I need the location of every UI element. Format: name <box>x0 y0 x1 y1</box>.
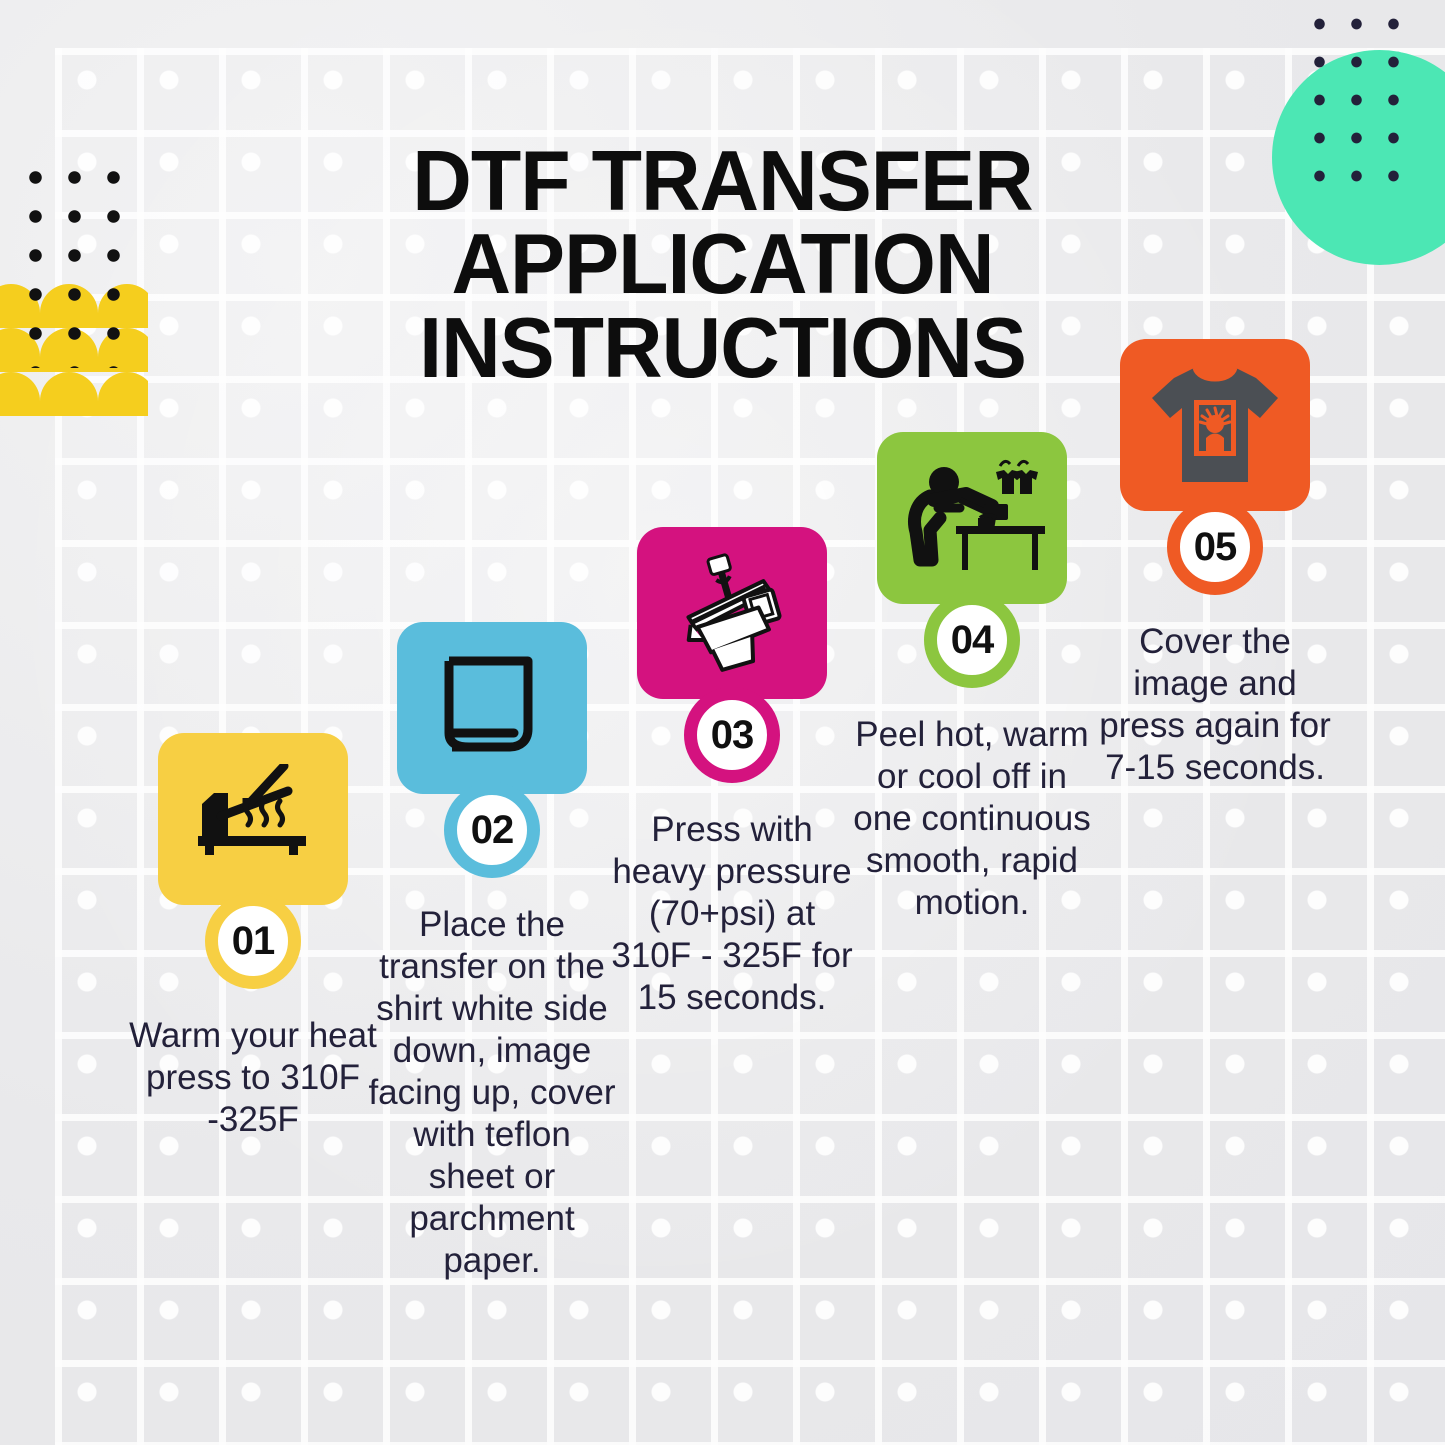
step-04-number: 04 <box>951 618 994 663</box>
step-03[interactable]: 03 Press with heavy pressure (70+psi) at… <box>607 527 857 1019</box>
step-05-number: 05 <box>1194 525 1237 570</box>
step-05[interactable]: 05 Cover the image and press again for 7… <box>1090 339 1340 789</box>
step-05-number-badge[interactable]: 05 <box>1167 499 1263 595</box>
step-03-number-badge[interactable]: 03 <box>684 687 780 783</box>
step-02-card[interactable] <box>397 622 587 794</box>
peeling-person-icon <box>900 456 1045 581</box>
step-01-number-badge[interactable]: 01 <box>205 893 301 989</box>
dot-grid-top-left-decoration <box>16 158 134 368</box>
step-03-number: 03 <box>711 713 754 758</box>
printed-tshirt-icon <box>1144 360 1286 490</box>
step-04-number-badge[interactable]: 04 <box>924 592 1020 688</box>
step-02[interactable]: 02 Place the transfer on the shirt white… <box>367 622 617 1282</box>
step-02-caption: Place the transfer on the shirt white si… <box>367 904 617 1282</box>
step-01-number: 01 <box>232 919 275 964</box>
step-01-caption: Warm your heat press to 310F -325F <box>128 1015 378 1141</box>
transfer-sheet-icon <box>436 653 548 763</box>
step-03-caption: Press with heavy pressure (70+psi) at 31… <box>607 809 857 1019</box>
step-03-card[interactable] <box>637 527 827 699</box>
step-04[interactable]: 04 Peel hot, warm or cool off in one con… <box>847 432 1097 924</box>
infographic-canvas: DTF TRANSFER APPLICATION INSTRUCTIONS <box>0 0 1445 1445</box>
step-04-caption: Peel hot, warm or cool off in one contin… <box>847 714 1097 924</box>
step-05-card[interactable] <box>1120 339 1310 511</box>
heat-press-machine-icon <box>667 553 797 673</box>
step-01[interactable]: 01 Warm your heat press to 310F -325F <box>128 733 378 1141</box>
dot-grid-top-right-decoration <box>1301 5 1423 185</box>
page-title-line-1: DTF TRANSFER APPLICATION <box>167 140 1278 307</box>
step-05-caption: Cover the image and press again for 7-15… <box>1090 621 1340 789</box>
step-04-card[interactable] <box>877 432 1067 604</box>
step-01-card[interactable] <box>158 733 348 905</box>
step-02-number-badge[interactable]: 02 <box>444 782 540 878</box>
step-02-number: 02 <box>471 808 514 853</box>
heat-press-open-icon <box>188 764 318 874</box>
